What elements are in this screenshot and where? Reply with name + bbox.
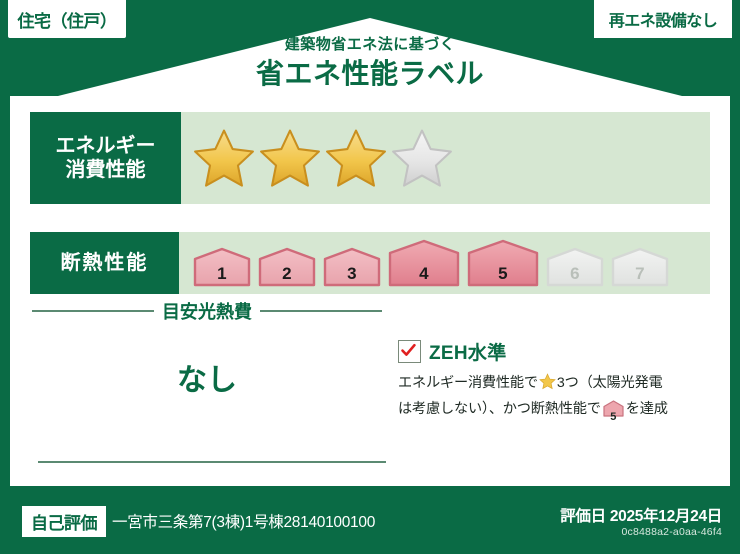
house-icon: 5 [603,400,624,425]
energy-performance-row: エネルギー 消費性能 [30,112,710,204]
star-rating [193,127,453,189]
star-icon [259,127,321,189]
building-name: 一宮市三条第7(3棟)1号棟28140100100 [112,510,375,532]
insulation-performance-label: 断熱性能 [30,232,179,294]
check-icon [398,340,421,363]
utility-cost-header: 目安光熱費 [32,300,382,322]
insulation-level-2: 2 [258,247,316,287]
energy-performance-label: エネルギー 消費性能 [30,112,181,204]
utility-cost-rule-right [260,310,382,312]
insulation-level-number: 4 [388,265,460,282]
zeh-title: ZEH水準 [429,338,507,365]
footer-bar: 自己評価 一宮市三条第7(3棟)1号棟28140100100 評価日 2025年… [0,492,740,554]
evaluation-date: 評価日 2025年12月24日 [560,504,722,526]
star-icon [325,127,387,189]
zeh-house-value: 5 [603,412,624,423]
insulation-level-4: 4 [388,239,460,287]
zeh-text-part4: を達成 [626,401,668,417]
utility-cost-value: なし [32,355,382,399]
energy-label-root: 住宅（住戸） 再エネ設備なし 建築物省エネ法に基づく 省エネ性能ラベル エネルギ… [0,0,740,554]
evaluation-hash: 0c8488a2-a0aa-46f4 [621,526,722,538]
insulation-level-number: 3 [323,265,381,282]
insulation-performance-row: 断熱性能 1234567 [30,232,710,294]
badge-renewable-equipment: 再エネ設備なし [594,0,732,38]
insulation-performance-body: 1234567 [179,232,710,294]
insulation-level-number: 5 [467,265,539,282]
insulation-level-1: 1 [193,247,251,287]
utility-cost-title: 目安光熱費 [162,298,252,324]
insulation-level-number: 6 [546,265,604,282]
insulation-level-6: 6 [546,247,604,287]
insulation-scale: 1234567 [193,239,669,287]
insulation-level-number: 7 [611,265,669,282]
insulation-level-7: 7 [611,247,669,287]
star-icon [391,127,453,189]
insulation-level-3: 3 [323,247,381,287]
zeh-text-part3: は考慮しない）、かつ断熱性能で [398,401,601,417]
energy-label-line2: 消費性能 [66,158,146,182]
zeh-header: ZEH水準 [398,338,710,365]
badge-dwelling-type: 住宅（住戸） [8,0,126,38]
zeh-description: エネルギー消費性能で3つ（太陽光発電 は考慮しない）、かつ断熱性能で5を達成 [398,372,710,425]
self-evaluation-badge: 自己評価 [22,506,106,537]
insulation-level-number: 1 [193,265,251,282]
insulation-level-number: 2 [258,265,316,282]
zeh-standard-block: ZEH水準 エネルギー消費性能で3つ（太陽光発電 は考慮しない）、かつ断熱性能で… [398,338,710,425]
zeh-text-part1: エネルギー消費性能で [398,375,538,391]
utility-cost-rule-left [32,310,154,312]
insulation-level-5: 5 [467,239,539,287]
energy-performance-body [181,112,710,204]
utility-cost-bottom-rule [38,461,386,463]
zeh-text-part2: 3つ（太陽光発電 [557,375,663,391]
energy-label-line1: エネルギー [56,134,156,158]
star-icon [539,373,556,398]
star-icon [193,127,255,189]
